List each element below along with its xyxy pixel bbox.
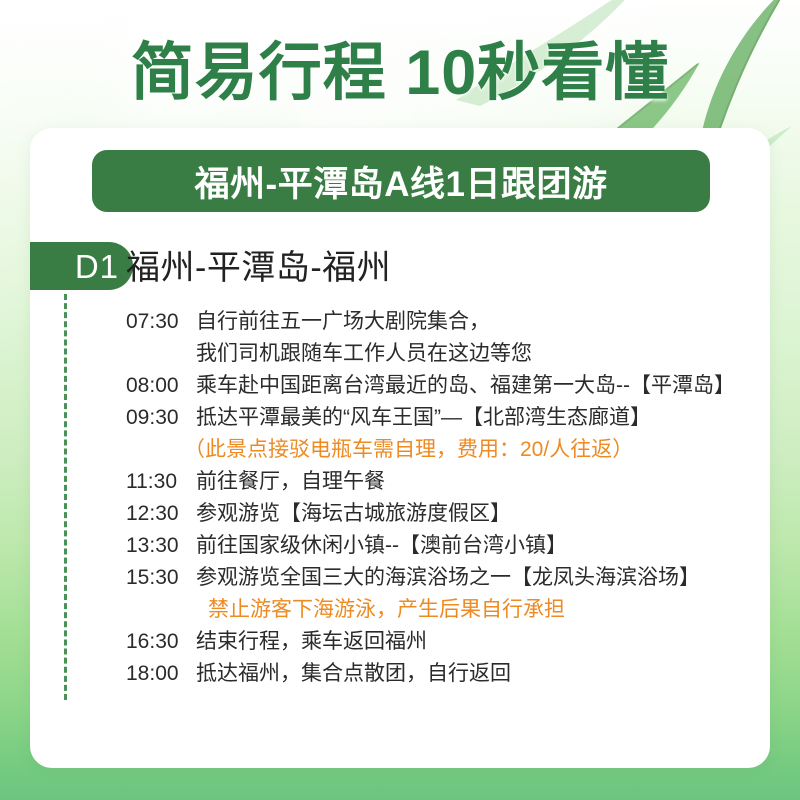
itinerary-row: 08:00乘车赴中国距离台湾最近的岛、福建第一大岛--【平潭岛】	[126, 370, 756, 402]
itinerary-poster: 简易行程 10秒看懂 福州-平潭岛A线1日跟团游 D1 福州-平潭岛-福州 07…	[0, 0, 800, 800]
itinerary-row-text: （此景点接驳电瓶车需自理，费用：20/人往返）	[184, 434, 633, 466]
itinerary-row-time: 18:00	[126, 658, 188, 690]
itinerary-row-text: 我们司机跟随车工作人员在这边等您	[188, 338, 532, 370]
itinerary-row: 09:30抵达平潭最美的“风车王国”—【北部湾生态廊道】	[126, 402, 756, 434]
itinerary-row-text: 结束行程，乘车返回福州	[188, 626, 427, 658]
itinerary-card: 福州-平潭岛A线1日跟团游 D1 福州-平潭岛-福州 07:30自行前往五一广场…	[30, 128, 770, 768]
itinerary-row: 07:30自行前往五一广场大剧院集合，	[126, 306, 756, 338]
itinerary-row: 我们司机跟随车工作人员在这边等您	[126, 338, 756, 370]
itinerary-list: 07:30自行前往五一广场大剧院集合，我们司机跟随车工作人员在这边等您08:00…	[126, 306, 756, 690]
route-banner-label: 福州-平潭岛A线1日跟团游	[195, 156, 608, 207]
route-banner: 福州-平潭岛A线1日跟团游	[92, 150, 710, 212]
itinerary-row-text: 参观游览全国三大的海滨浴场之一【龙凤头海滨浴场】	[188, 562, 700, 594]
itinerary-row: 15:30参观游览全国三大的海滨浴场之一【龙凤头海滨浴场】	[126, 562, 756, 594]
itinerary-row-text: 抵达平潭最美的“风车王国”—【北部湾生态廊道】	[188, 402, 651, 434]
itinerary-row-time: 08:00	[126, 370, 188, 402]
day-badge-label: D1	[75, 250, 119, 283]
itinerary-row-text: 前往国家级休闲小镇--【澳前台湾小镇】	[188, 530, 567, 562]
day-badge: D1	[30, 242, 133, 290]
itinerary-row-time: 13:30	[126, 530, 188, 562]
itinerary-row-text: 前往餐厅，自理午餐	[188, 466, 385, 498]
itinerary-row: 禁止游客下海游泳，产生后果自行承担	[126, 594, 756, 626]
itinerary-row-time: 07:30	[126, 306, 188, 338]
itinerary-row-text: 禁止游客下海游泳，产生后果自行承担	[208, 594, 565, 626]
page-title: 简易行程 10秒看懂	[0, 36, 800, 110]
itinerary-row-time: 12:30	[126, 498, 188, 530]
itinerary-row: 12:30参观游览【海坛古城旅游度假区】	[126, 498, 756, 530]
itinerary-row: （此景点接驳电瓶车需自理，费用：20/人往返）	[126, 434, 756, 466]
itinerary-row-text: 抵达福州，集合点散团，自行返回	[188, 658, 511, 690]
itinerary-row-text: 自行前往五一广场大剧院集合，	[188, 306, 490, 338]
itinerary-row-time: 09:30	[126, 402, 188, 434]
itinerary-row: 11:30前往餐厅，自理午餐	[126, 466, 756, 498]
itinerary-row-time: 11:30	[126, 466, 188, 498]
dashed-timeline-icon	[64, 294, 67, 700]
itinerary-row: 16:30结束行程，乘车返回福州	[126, 626, 756, 658]
itinerary-row-time: 15:30	[126, 562, 188, 594]
itinerary-row: 18:00抵达福州，集合点散团，自行返回	[126, 658, 756, 690]
itinerary-row: 13:30前往国家级休闲小镇--【澳前台湾小镇】	[126, 530, 756, 562]
itinerary-row-text: 乘车赴中国距离台湾最近的岛、福建第一大岛--【平潭岛】	[188, 370, 735, 402]
itinerary-row-text: 参观游览【海坛古城旅游度假区】	[188, 498, 511, 530]
itinerary-row-time: 16:30	[126, 626, 188, 658]
day-title: 福州-平潭岛-福州	[126, 240, 391, 289]
